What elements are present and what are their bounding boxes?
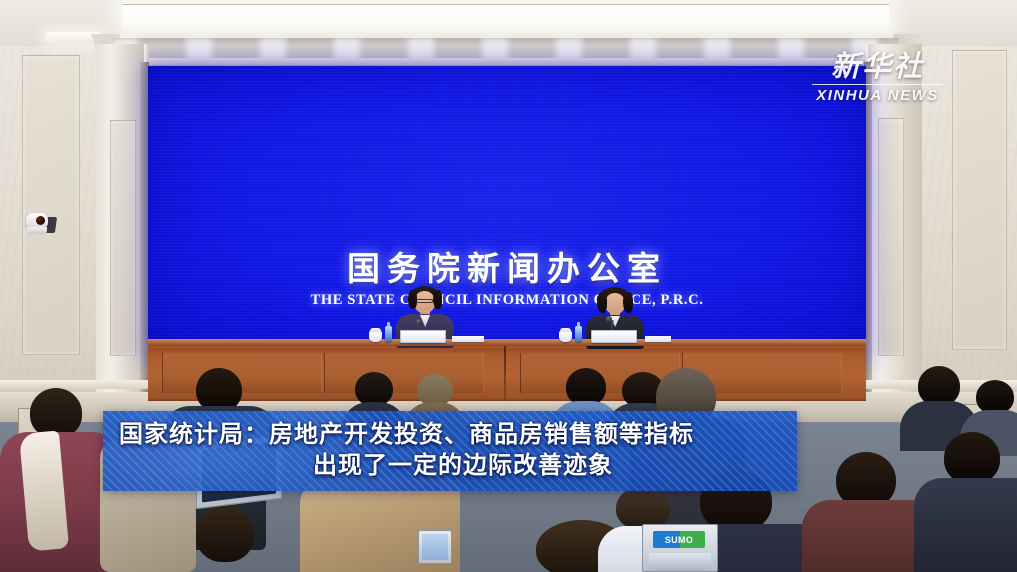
screen-title-cn: 国务院新闻办公室 [148, 252, 866, 287]
podium-table [148, 341, 866, 401]
teacup-right [559, 331, 572, 342]
podium-edge [148, 339, 866, 346]
camera-lens [36, 216, 45, 225]
name-card-left [400, 330, 446, 343]
water-bottle-right [575, 326, 582, 342]
lower-third-caption: 国家统计局：房地产开发投资、商品房销售额等指标 出现了一定的边际改善迹象 [103, 411, 797, 491]
camera-base [27, 227, 47, 234]
water-bottle-left [385, 326, 392, 342]
microphone-right [606, 316, 612, 322]
teacup-left [369, 331, 382, 342]
podium-seam [504, 341, 506, 401]
caption-text-block: 国家统计局：房地产开发投资、商品房销售额等指标 出现了一定的边际改善迹象 [103, 411, 797, 491]
podium-panel [324, 353, 484, 393]
screen-caption-block: 国务院新闻办公室 THE STATE COUNCIL INFORMATION O… [148, 252, 866, 309]
audience-laptop-screen [422, 534, 448, 560]
coat-fur-trim [24, 432, 86, 552]
speaker-left-glasses [416, 299, 433, 303]
name-card-right [591, 330, 637, 343]
ptz-camera-icon [26, 213, 56, 237]
caption-line-2: 出现了一定的边际改善迹象 [119, 450, 781, 481]
led-display-screen: 国务院新闻办公室 THE STATE COUNCIL INFORMATION O… [148, 66, 866, 358]
ceiling-soffit-light [122, 4, 889, 38]
speaker-right-hair-side-r [623, 292, 633, 313]
screen-title-en: THE STATE COUNCIL INFORMATION OFFICE, P.… [148, 292, 866, 309]
caption-line-1: 国家统计局：房地产开发投资、商品房销售额等指标 [119, 419, 781, 450]
document-left [452, 336, 484, 342]
speaker-right-hair-side-l [597, 292, 607, 313]
document-right [645, 336, 671, 342]
wall-panel-far-right [952, 50, 1007, 350]
audience-laptop-sticker: SUMO [642, 524, 718, 572]
wall-panel-far-left [22, 55, 80, 355]
microphone-left [416, 319, 422, 325]
podium-panel [162, 353, 322, 393]
speaker-left-hair-side-r [433, 290, 442, 309]
broadcast-frame: 国务院新闻办公室 THE STATE COUNCIL INFORMATION O… [0, 0, 1017, 572]
laptop-sticker-label: SUMO [665, 535, 694, 545]
soffit-underside [112, 38, 899, 60]
soffit-molding [104, 58, 907, 66]
wall-panel-right [878, 118, 904, 356]
wall-panel-left [110, 120, 136, 356]
